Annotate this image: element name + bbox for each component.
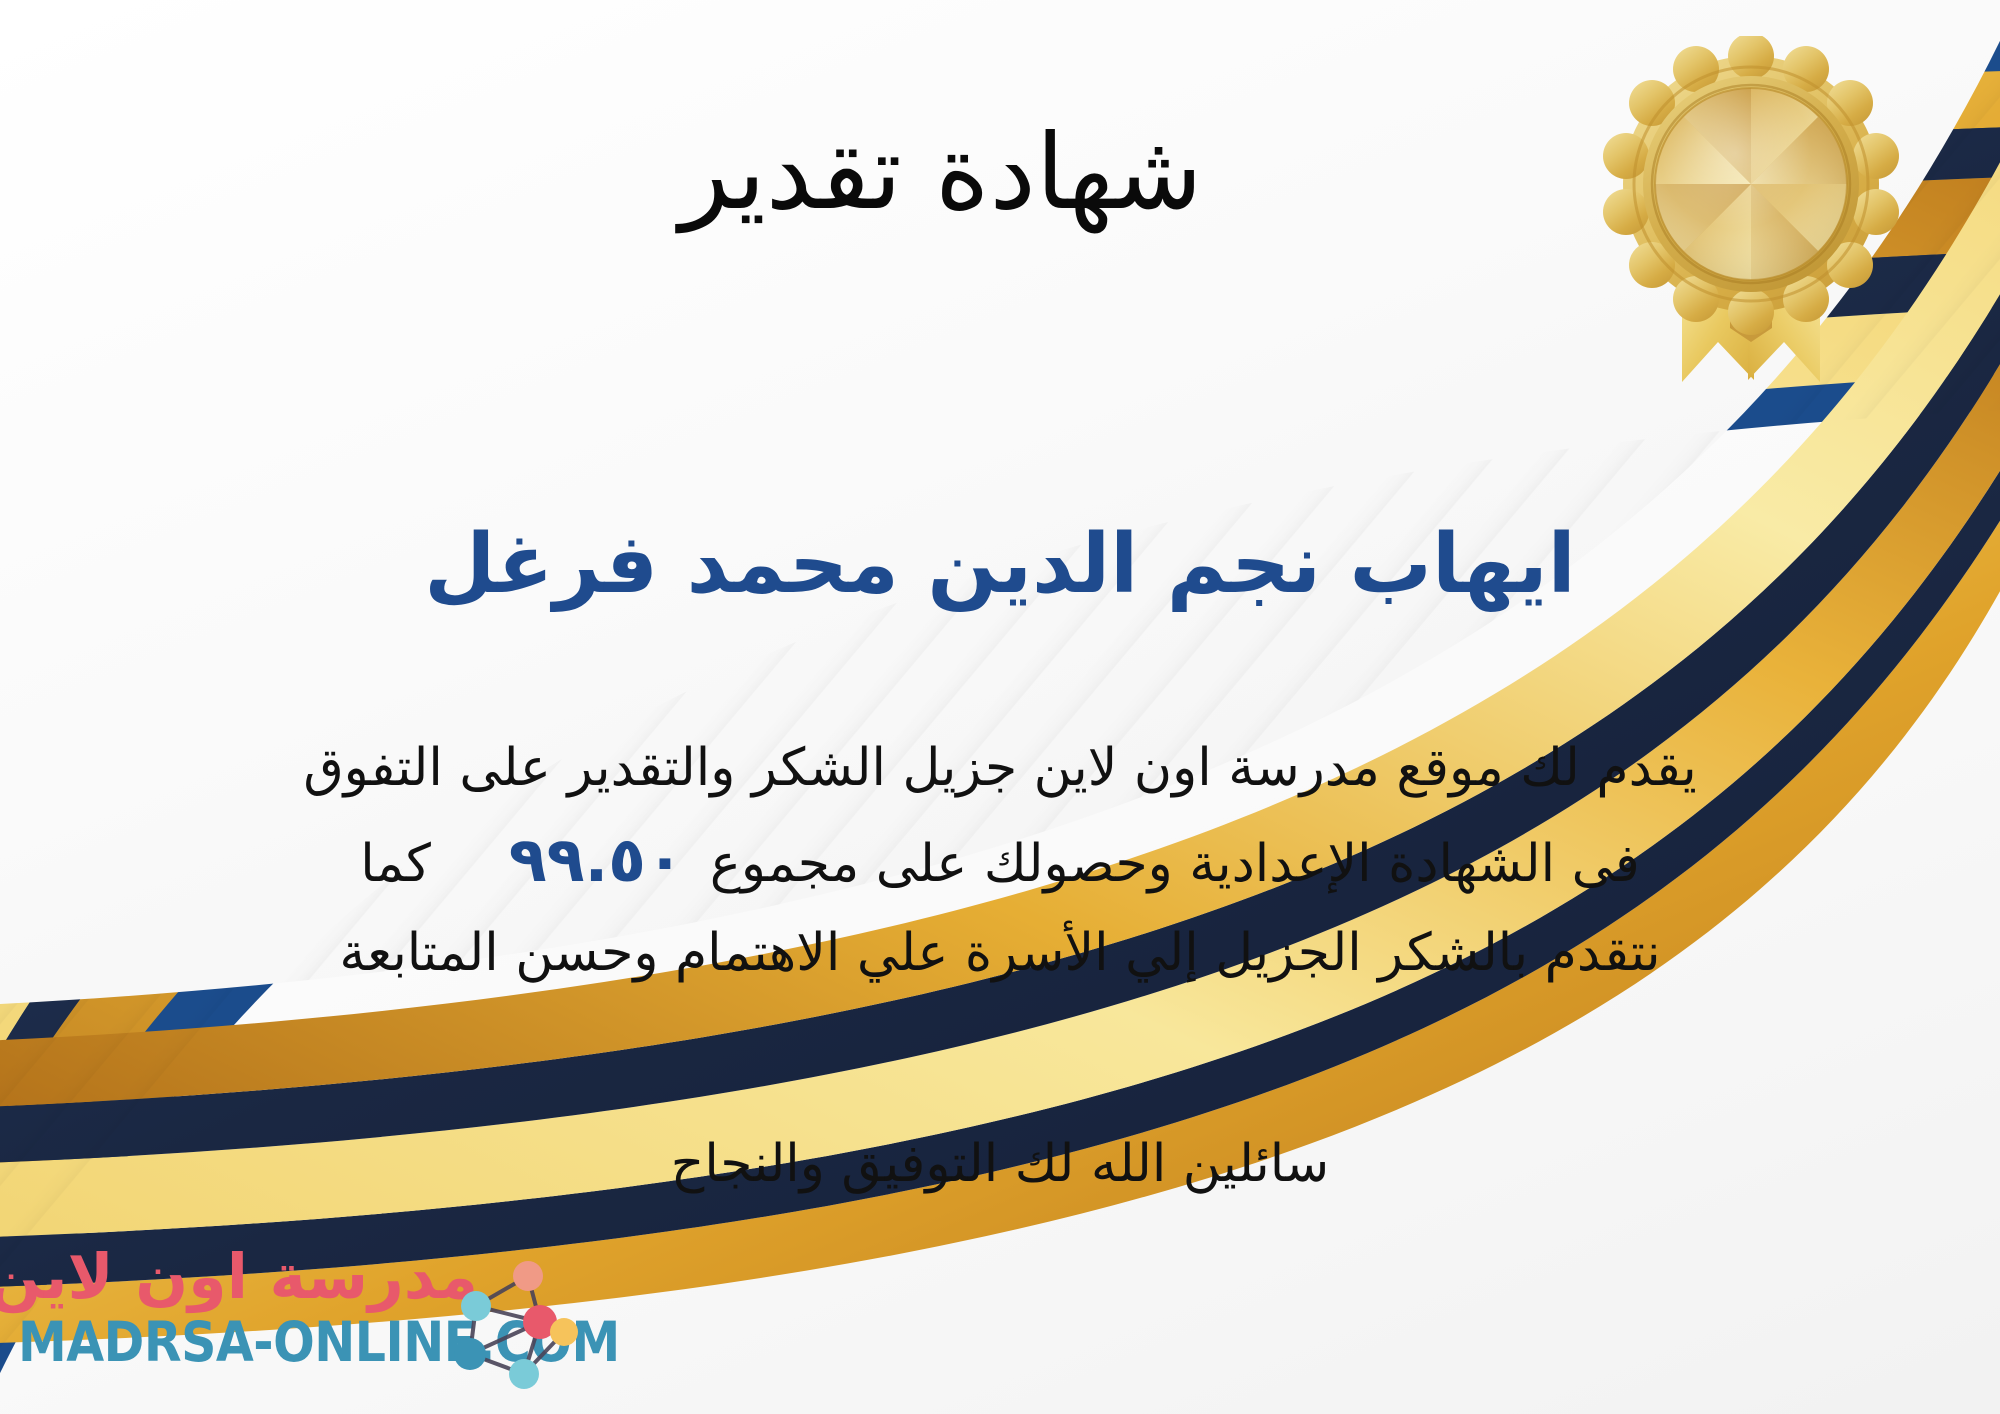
network-nodes-icon	[432, 1250, 582, 1400]
citation-line-2-prefix: فى الشهادة الإعدادية وحصولك على مجموع	[710, 834, 1640, 894]
recipient-name: ايهاب نجم الدين محمد فرغل	[0, 520, 2000, 610]
citation-line-3: نتقدم بالشكر الجزيل إلي الأسرة علي الاهت…	[60, 911, 1940, 995]
gold-medal-rosette-icon	[1598, 36, 1904, 386]
citation-line-2: فى الشهادة الإعدادية وحصولك على مجموع٩٩.…	[60, 810, 1940, 910]
brand-arabic-name: مدرسة اون لاين	[18, 1246, 478, 1308]
citation-body: يقدم لك موقع مدرسة اون لاين جزيل الشكر و…	[60, 726, 1940, 995]
citation-line-2-suffix: كما	[360, 834, 431, 894]
grade-value: ٩٩.٥٠	[483, 823, 710, 896]
certificate-canvas: شهادة تقدير ايهاب نجم الدين محمد فرغل يق…	[0, 0, 2000, 1414]
brand-logo[interactable]: مدرسة اون لاين MADRSA-ONLINE.COM	[18, 1246, 578, 1406]
citation-line-1: يقدم لك موقع مدرسة اون لاين جزيل الشكر و…	[60, 726, 1940, 810]
brand-text-block: مدرسة اون لاين MADRSA-ONLINE.COM	[18, 1246, 478, 1365]
brand-website: MADRSA-ONLINE.COM	[18, 1314, 478, 1372]
closing-line: سائلين الله لك التوفيق والنجاح	[0, 1128, 2000, 1201]
